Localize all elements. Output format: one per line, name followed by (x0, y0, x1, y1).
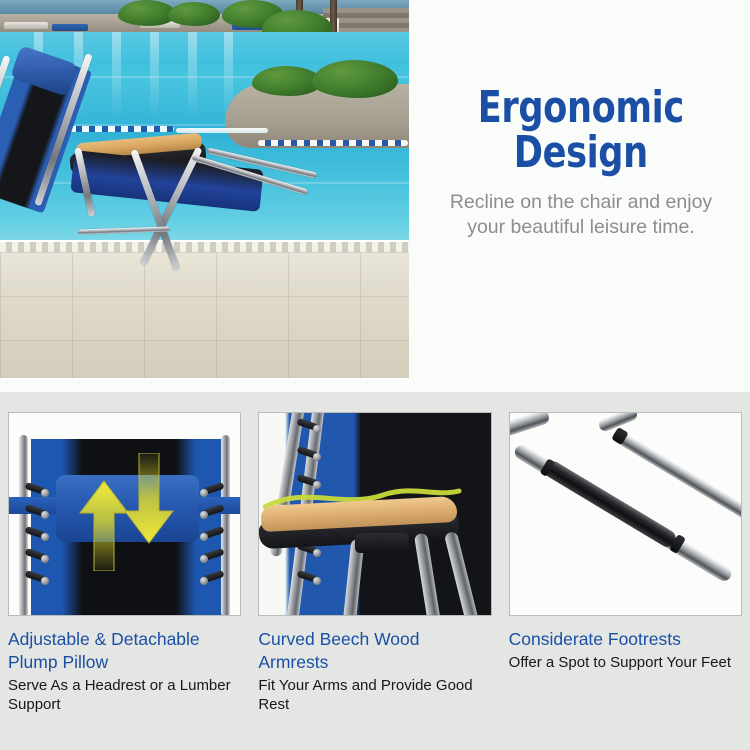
bungee-grommet (200, 489, 208, 497)
bungee-grommet (41, 577, 49, 585)
feature-card-footrest (509, 412, 742, 616)
bungee-grommet (200, 511, 208, 519)
bungee-grommet (313, 549, 321, 557)
foliage-cluster (168, 2, 220, 26)
bungee-grommet (41, 511, 49, 519)
bungee-grommet (200, 577, 208, 585)
footrest-black-sleeve (541, 458, 678, 550)
armrest-bracket (355, 533, 409, 553)
feature-captions: Adjustable & Detachable Plump Pillow Ser… (8, 628, 742, 715)
caption-title: Adjustable & Detachable Plump Pillow (8, 628, 241, 674)
bungee-cord-left (25, 483, 51, 603)
caption-title: Curved Beech Wood Armrests (258, 628, 491, 674)
hero-section: Ergonomic Design Recline on the chair an… (0, 0, 750, 392)
footrest-tube-bend (509, 412, 551, 441)
arrow-down-icon (122, 453, 176, 545)
caption-title: Considerate Footrests (509, 628, 742, 651)
bungee-grommet (200, 555, 208, 563)
caption-armrest: Curved Beech Wood Armrests Fit Your Arms… (258, 628, 491, 715)
hero-text-panel: Ergonomic Design Recline on the chair an… (412, 0, 750, 378)
caption-pillow: Adjustable & Detachable Plump Pillow Ser… (8, 628, 241, 715)
hero-subtitle: Recline on the chair and enjoy your beau… (439, 190, 724, 241)
feature-card-pillow (8, 412, 241, 616)
zero-gravity-chair (0, 52, 330, 342)
caption-subtitle: Offer a Spot to Support Your Feet (509, 653, 742, 673)
bungee-cord-right (198, 483, 224, 603)
hero-photo-pool-chair (0, 0, 409, 378)
far-lounger (4, 22, 48, 29)
caption-subtitle: Serve As a Headrest or a Lumber Support (8, 676, 241, 716)
feature-card-armrest (258, 412, 491, 616)
bungee-grommet (41, 533, 49, 541)
foliage-cluster (118, 0, 176, 26)
caption-footrest: Considerate Footrests Offer a Spot to Su… (509, 628, 742, 715)
bungee-grommet (313, 577, 321, 585)
page-title: Ergonomic Design (478, 86, 684, 176)
bungee-grommet (200, 533, 208, 541)
product-feature-page: Ergonomic Design Recline on the chair an… (0, 0, 750, 750)
caption-subtitle: Fit Your Arms and Provide Good Rest (258, 676, 491, 716)
bungee-grommet (41, 489, 49, 497)
feature-card-images (8, 412, 742, 616)
far-lounger (52, 24, 88, 31)
bungee-grommet (313, 425, 321, 433)
bungee-grommet (41, 555, 49, 563)
bungee-grommet (313, 453, 321, 461)
features-section: Adjustable & Detachable Plump Pillow Ser… (0, 392, 750, 750)
